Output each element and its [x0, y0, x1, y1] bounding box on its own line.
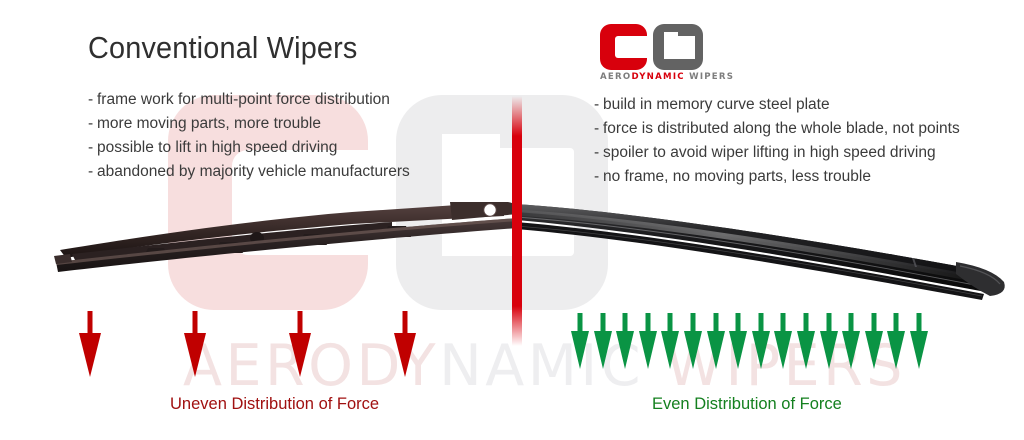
- force-arrow-head: [842, 331, 860, 369]
- logo-subtitle-part3: WIPERS: [685, 72, 734, 82]
- list-item: -possible to lift in high speed driving: [88, 136, 410, 160]
- conventional-wiper-image: [52, 192, 520, 278]
- force-arrow-stem: [871, 313, 876, 331]
- list-item: -frame work for multi-point force distri…: [88, 88, 410, 112]
- force-arrow: [794, 313, 818, 371]
- force-arrow-head: [774, 331, 792, 369]
- bullet-marker: -: [594, 117, 603, 141]
- force-arrow-head: [707, 331, 725, 369]
- list-item-label: abandoned by majority vehicle manufactur…: [97, 163, 410, 180]
- force-arrow-head: [865, 331, 883, 369]
- force-arrow-stem: [758, 313, 763, 331]
- force-arrow-head: [797, 331, 815, 369]
- force-arrow-head: [394, 333, 416, 377]
- force-arrow-head: [910, 331, 928, 369]
- list-item: -more moving parts, more trouble: [88, 112, 410, 136]
- list-item: -no frame, no moving parts, less trouble: [594, 165, 960, 189]
- force-arrow: [726, 313, 750, 371]
- force-arrow-head: [184, 333, 206, 377]
- force-arrow-head: [594, 331, 612, 369]
- force-arrow: [78, 311, 102, 380]
- force-arrow-head: [684, 331, 702, 369]
- logo-subtitle-part2: DYNAMIC: [631, 72, 684, 82]
- bullet-marker: -: [88, 160, 97, 184]
- force-arrow-stem: [781, 313, 786, 331]
- force-arrow-stem: [623, 313, 628, 331]
- force-arrow-stem: [298, 311, 303, 333]
- force-arrow-stem: [88, 311, 93, 333]
- force-arrow-stem: [826, 313, 831, 331]
- force-arrow: [613, 313, 637, 371]
- force-arrow-stem: [849, 313, 854, 331]
- force-arrow-stem: [578, 313, 583, 331]
- bullet-marker: -: [88, 112, 97, 136]
- force-arrow: [591, 313, 615, 371]
- force-arrow-head: [571, 331, 589, 369]
- force-arrow: [749, 313, 773, 371]
- force-arrow-head: [79, 333, 101, 377]
- force-arrow: [568, 313, 592, 371]
- force-arrow: [862, 313, 886, 371]
- logo-subtitle: AERODYNAMIC WIPERS: [600, 72, 734, 82]
- force-arrow: [907, 313, 931, 371]
- list-item-label: spoiler to avoid wiper lifting in high s…: [603, 144, 936, 161]
- even-force-caption: Even Distribution of Force: [652, 395, 842, 414]
- force-arrow: [704, 313, 728, 371]
- bullet-marker: -: [88, 136, 97, 160]
- conventional-feature-list: -frame work for multi-point force distri…: [88, 88, 410, 184]
- force-arrow: [817, 313, 841, 371]
- force-arrow-head: [616, 331, 634, 369]
- logo-subtitle-part1: AERO: [600, 72, 631, 82]
- force-arrow: [681, 313, 705, 371]
- force-arrow: [288, 311, 312, 380]
- force-arrow-stem: [736, 313, 741, 331]
- force-arrow: [636, 313, 660, 371]
- force-arrow-stem: [804, 313, 809, 331]
- list-item: -force is distributed along the whole bl…: [594, 117, 960, 141]
- bullet-marker: -: [594, 165, 603, 189]
- force-arrow-stem: [403, 311, 408, 333]
- force-arrow: [771, 313, 795, 371]
- center-divider: [512, 96, 522, 346]
- force-arrow-stem: [691, 313, 696, 331]
- list-item: -build in memory curve steel plate: [594, 93, 960, 117]
- force-arrow: [884, 313, 908, 371]
- force-arrow-stem: [917, 313, 922, 331]
- list-item-label: more moving parts, more trouble: [97, 115, 321, 132]
- force-arrow-head: [289, 333, 311, 377]
- bullet-marker: -: [88, 88, 97, 112]
- force-arrow-stem: [668, 313, 673, 331]
- force-arrow-stem: [645, 313, 650, 331]
- force-arrow: [183, 311, 207, 380]
- list-item: -spoiler to avoid wiper lifting in high …: [594, 141, 960, 165]
- force-arrow: [658, 313, 682, 371]
- bullet-marker: -: [594, 141, 603, 165]
- aerodynamic-feature-list: -build in memory curve steel plate -forc…: [594, 93, 960, 189]
- list-item-label: build in memory curve steel plate: [603, 96, 830, 113]
- force-arrow-stem: [713, 313, 718, 331]
- force-arrow-stem: [600, 313, 605, 331]
- force-arrow-stem: [193, 311, 198, 333]
- force-arrow: [839, 313, 863, 371]
- brand-logo: AERODYNAMIC WIPERS: [600, 24, 740, 82]
- force-arrow-head: [887, 331, 905, 369]
- logo-letter-d-notch: [664, 36, 695, 59]
- force-arrow-head: [729, 331, 747, 369]
- logo-letter-a-notch: [615, 36, 647, 58]
- aerodynamic-wiper-image: [516, 196, 1016, 308]
- force-arrow: [393, 311, 417, 380]
- force-arrow-head: [661, 331, 679, 369]
- force-arrow-head: [639, 331, 657, 369]
- list-item: -abandoned by majority vehicle manufactu…: [88, 160, 410, 184]
- comparison-infographic: AERODYNAMIC WIPERS: [0, 0, 1024, 440]
- uneven-force-caption: Uneven Distribution of Force: [170, 395, 379, 414]
- list-item-label: force is distributed along the whole bla…: [603, 120, 960, 137]
- force-arrow-stem: [894, 313, 899, 331]
- force-arrow-head: [820, 331, 838, 369]
- bullet-marker: -: [594, 93, 603, 117]
- force-arrow-head: [752, 331, 770, 369]
- page-title: Conventional Wipers: [88, 30, 358, 66]
- list-item-label: frame work for multi-point force distrib…: [97, 91, 390, 108]
- list-item-label: no frame, no moving parts, less trouble: [603, 168, 871, 185]
- list-item-label: possible to lift in high speed driving: [97, 139, 337, 156]
